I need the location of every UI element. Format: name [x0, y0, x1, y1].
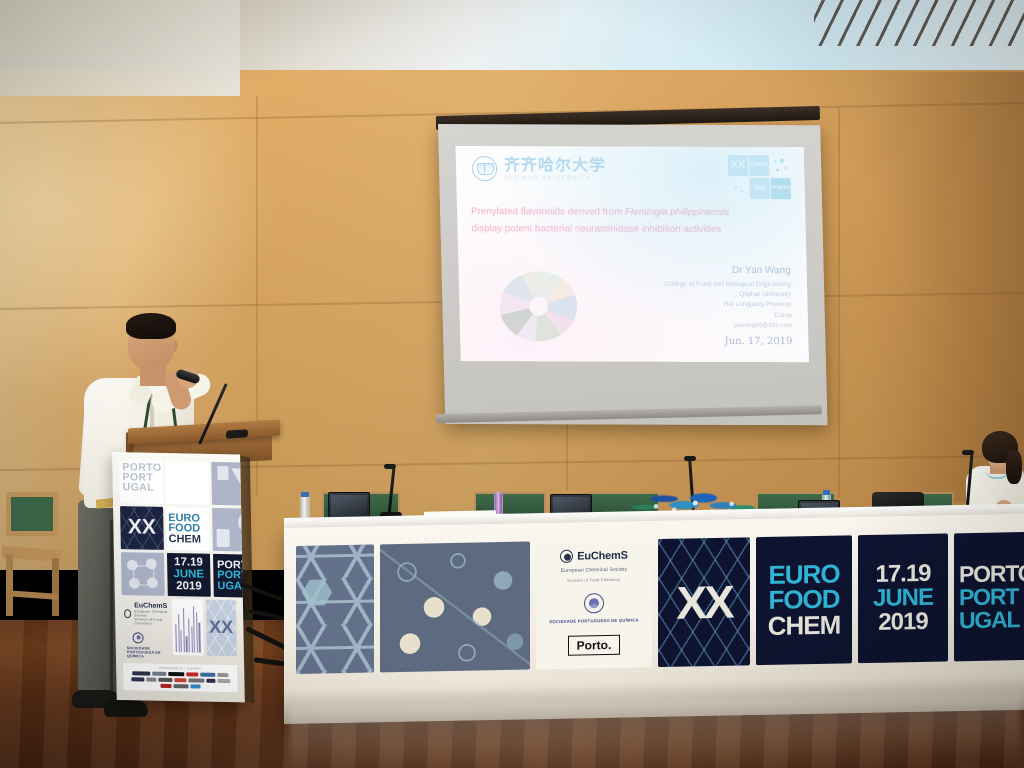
podium-tile-bar-graphic — [172, 599, 204, 656]
sponsor-chip — [158, 678, 172, 682]
spq-mark-icon — [132, 632, 143, 643]
sponsor-chip — [217, 679, 230, 683]
podium-spq-name: SOCIEDADE PORTUGUESA DE QUÍMICA — [127, 646, 170, 659]
podium-tile-xx-light: XX — [205, 599, 237, 656]
banner-porto-text: PORTO — [959, 561, 1024, 585]
slide-title-species: Flemingia philippinensis — [625, 207, 730, 218]
sponsor-chip — [131, 677, 144, 681]
slide-logo-xx: XX — [728, 155, 748, 176]
cable — [245, 626, 289, 651]
chairperson-hair-side — [1006, 450, 1022, 484]
qiqihar-university-emblem-icon — [472, 156, 498, 181]
podium-tile-blank — [165, 461, 209, 505]
banner-panel-euchems: EuChemS European Chemical Society Divisi… — [536, 539, 652, 669]
presentation-slide: 齐齐哈尔大学 QIQIHAR UNIVERSITY XX EURO 2019 P… — [456, 146, 809, 362]
podium-xx-light-text: XX — [209, 619, 233, 637]
slide-presenter-name: Dr Yan Wang — [600, 265, 790, 277]
podium-month: JUNE — [173, 569, 204, 581]
slide-logo-efc: EURO — [749, 155, 769, 176]
podium-euchems-div: Division of Food Chemistry — [134, 617, 169, 626]
podium-spq-logo — [132, 632, 143, 643]
gooseneck-microphone-icon — [962, 450, 974, 455]
euchems-subtitle: European Chemical Society — [561, 567, 628, 574]
euchems-name: EuChemS — [577, 549, 628, 562]
speaker-leg-seam — [110, 520, 113, 695]
euchems-mark-icon — [560, 550, 573, 563]
slide-title: Prenylated flavonoids derived from Flemi… — [471, 204, 794, 239]
speaker-hair — [126, 313, 176, 339]
sponsor-chip — [160, 684, 171, 688]
sponsor-chip — [132, 671, 150, 675]
podium-dates: 17.19 — [174, 557, 203, 568]
podium-microphone-base — [226, 429, 248, 439]
porto-city-logo: Porto. — [568, 635, 621, 656]
banner-panel-hexagon-pattern — [296, 545, 374, 674]
podium-society-logos: EuChemS European Chemical Society Divisi… — [122, 602, 170, 659]
head-table-banner: EuChemS European Chemical Society Divisi… — [296, 532, 1012, 674]
ceiling-rails — [814, 0, 1024, 46]
chair-rail — [6, 590, 58, 600]
podium-banner-grid-row4: EuChemS European Chemical Society Divisi… — [122, 598, 237, 660]
slide-title-part1: Prenylated flavonoids derived from — [471, 206, 625, 218]
slide-author-block: Dr Yan Wang College of Food and Biologic… — [600, 265, 792, 348]
chair-leg — [52, 558, 59, 616]
podium-tile-molecule-icon — [121, 552, 165, 596]
upper-wall-left — [0, 0, 240, 96]
podium-tile-labware-icon — [211, 462, 245, 506]
university-name-cn: 齐齐哈尔大学 — [504, 157, 606, 173]
slide-affiliation-4: China — [602, 310, 792, 321]
slide-graphic-illustration — [494, 266, 582, 346]
podium-tile-eurofoodchem: EURO FOOD CHEM — [166, 507, 210, 551]
sponsor-chip — [217, 673, 228, 677]
sponsor-chip — [190, 684, 200, 688]
sponsor-chip — [200, 672, 215, 676]
slide-email: pitwang05@163.com — [602, 321, 792, 329]
sponsor-chip — [152, 671, 166, 675]
water-bottle-cap — [823, 490, 830, 495]
banner-xx-text: XX — [676, 575, 731, 630]
cable — [241, 583, 284, 602]
wall-seam-vertical — [838, 108, 840, 498]
wooden-chair-left — [0, 492, 66, 624]
podium-tile-date: 17.19 JUNE 2019 — [167, 553, 211, 597]
university-name-en: QIQIHAR UNIVERSITY — [504, 175, 606, 181]
slide-logo-date: 2019 — [750, 178, 770, 199]
speaker-shoe — [104, 700, 148, 717]
floor-reflection — [290, 694, 1020, 768]
slide-logo-blank — [728, 178, 748, 199]
podium-sponsor-strip: SPONSORED BY / SUPPORT — [123, 663, 238, 692]
banner-panel-porto-portugal: PORTO PORT UGAL — [954, 532, 1024, 662]
chair-backrest — [6, 492, 58, 536]
banner-year-text: 2019 — [878, 610, 927, 635]
podium-tile-porto-light: PORTO PORT UGAL — [119, 460, 163, 504]
podium-xx-text: XX — [128, 518, 156, 538]
chair-leg — [6, 554, 13, 616]
podium-euchems-logo: EuChemS European Chemical Society Divisi… — [124, 602, 170, 626]
slide-date: Jun. 17, 2019 — [602, 335, 792, 347]
slide-logo-euro: EURO — [751, 163, 768, 168]
projection-screen: 齐齐哈尔大学 QIQIHAR UNIVERSITY XX EURO 2019 P… — [438, 124, 827, 425]
slide-affiliation-2: Qiqihar University — [601, 290, 791, 301]
podium-tile-xx: XX — [120, 506, 164, 550]
podium-tile-labware2-icon — [212, 508, 245, 552]
podium-year: 2019 — [176, 581, 202, 592]
podium-porto-3: UGAL — [123, 483, 162, 494]
banner-panel-xx: XX — [658, 537, 750, 667]
banner-panel-eurofoodchem: EURO FOOD CHEM — [756, 535, 852, 665]
euchems-mark-icon — [124, 609, 131, 618]
sponsor-chip — [174, 678, 186, 682]
gooseneck-microphone-icon — [684, 456, 696, 461]
slide-logo-porto: PORTO — [771, 178, 791, 199]
sponsor-chip — [173, 684, 188, 688]
sponsor-chip — [168, 672, 184, 676]
spq-mark-icon — [584, 593, 604, 613]
slide-logo-dots — [770, 155, 790, 176]
slide-affiliation-1: College of Food and Biological Engineeri… — [601, 280, 791, 291]
sponsor-chip — [186, 672, 198, 676]
banner-chem-text: CHEM — [768, 612, 841, 639]
euchems-division: Division of Food Chemistry — [567, 578, 620, 583]
euchems-logo: EuChemS — [560, 549, 628, 563]
sponsor-chip — [188, 678, 204, 682]
banner-panel-molecule-pattern — [380, 542, 530, 673]
banner-panel-date: 17.19 JUNE 2019 — [858, 533, 948, 663]
podium-banner-board: PORTO PORT UGAL XX EURO FOOD CHEM 17.19 … — [112, 452, 245, 702]
conference-photo-scene: 齐齐哈尔大学 QIQIHAR UNIVERSITY XX EURO 2019 P… — [0, 0, 1024, 768]
slide-affiliation-3: Hei Longjiang Province — [601, 300, 791, 311]
water-bottle-cap — [301, 492, 309, 497]
podium-sponsor-row — [125, 671, 235, 689]
slide-eurofoodchem-logo: XX EURO 2019 PORTO — [728, 155, 791, 199]
slide-university-logo: 齐齐哈尔大学 QIQIHAR UNIVERSITY — [472, 156, 607, 181]
sponsor-chip — [206, 678, 215, 682]
podium-chem: CHEM — [168, 534, 201, 545]
gooseneck-microphone-icon — [384, 464, 396, 469]
podium-banner-grid: PORTO PORT UGAL XX EURO FOOD CHEM 17.19 … — [119, 460, 236, 597]
spq-name: SOCIEDADE PORTUGUESA DE QUÍMICA — [549, 617, 639, 624]
banner-ugal-text: UGAL — [959, 608, 1019, 632]
banner-port-text: PORT — [959, 585, 1018, 609]
slide-title-part2: display potent bacterial neuraminidase i… — [471, 223, 721, 235]
sponsor-chip — [146, 677, 156, 681]
